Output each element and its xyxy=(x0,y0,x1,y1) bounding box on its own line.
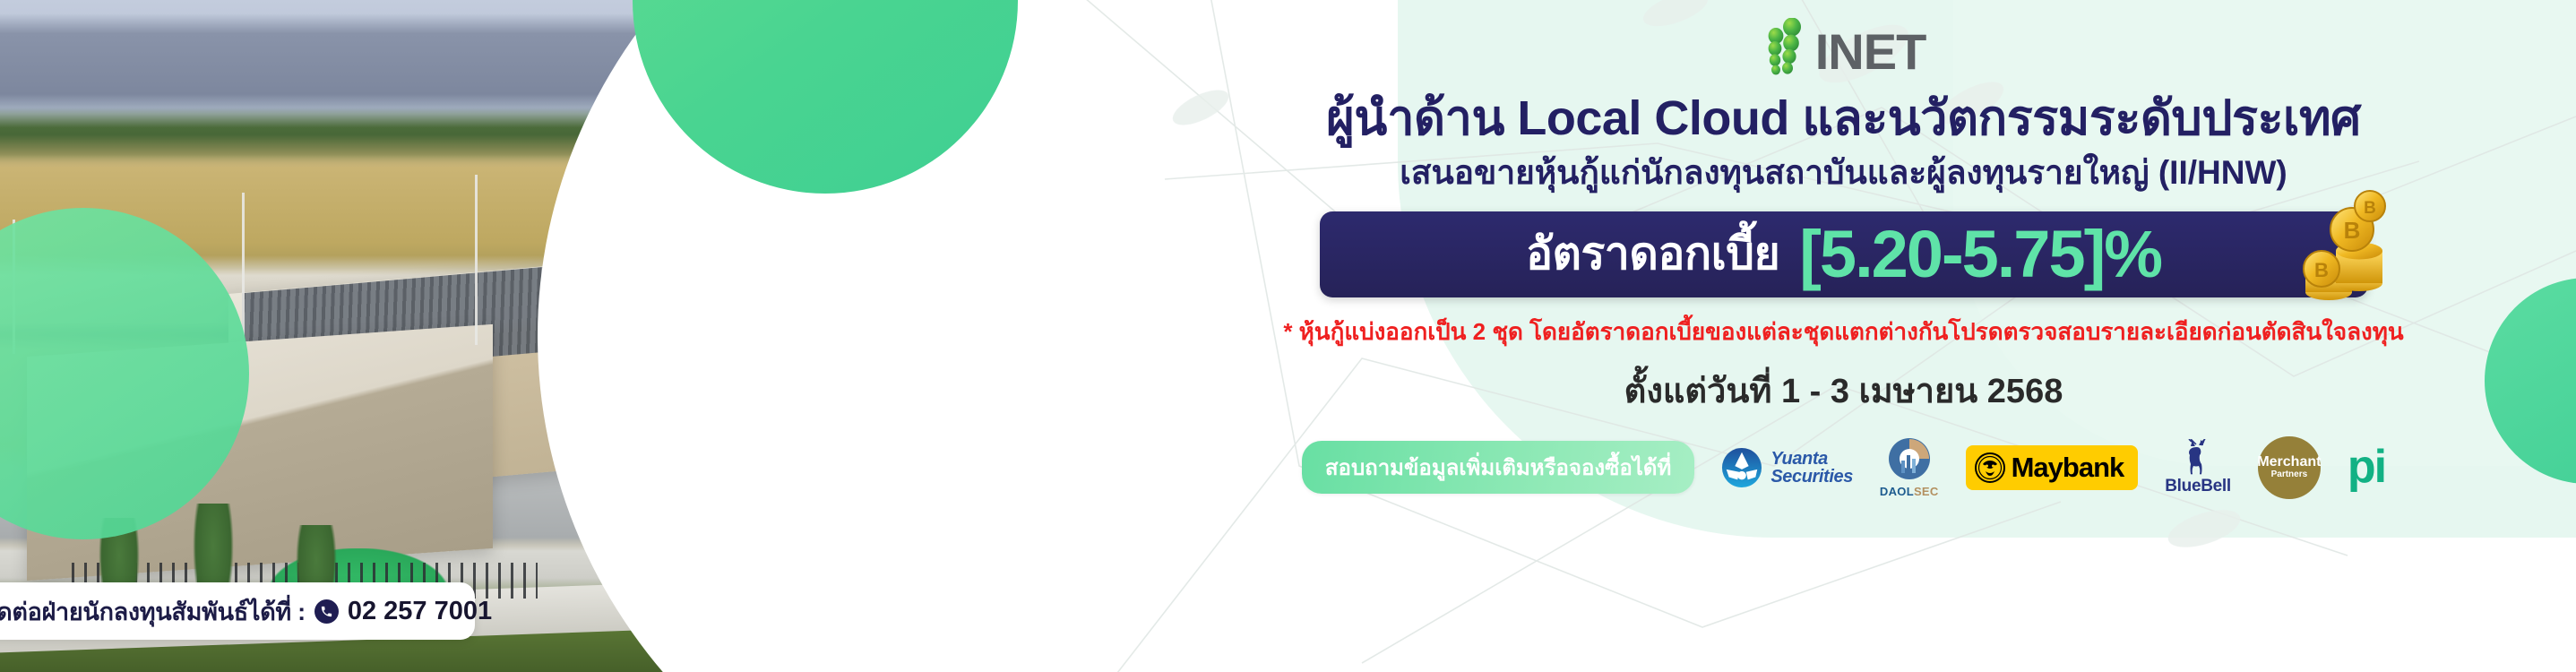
svg-text:B: B xyxy=(2364,199,2376,218)
bluebell-deer-icon xyxy=(2179,439,2217,477)
partner-logo-daol[interactable]: DAOLSEC xyxy=(1880,435,1939,500)
interest-rate-label: อัตราดอกเบี้ย xyxy=(1526,219,1779,289)
page-subtitle: เสนอขายหุ้นกู้แก่นักลงทุนสถาบันและผู้ลงท… xyxy=(1400,154,2287,191)
yuanta-line1: Yuanta xyxy=(1770,450,1853,468)
daol-line2: SEC xyxy=(1914,485,1939,498)
offer-content-column: INET ผู้นำด้าน Local Cloud และนวัตกรรมระ… xyxy=(1111,0,2576,672)
yuanta-wordmark: Yuanta Securities xyxy=(1770,450,1853,487)
partner-logo-merchant-partners[interactable]: Merchant Partners xyxy=(2258,436,2321,499)
daol-line1: DAOL xyxy=(1880,485,1914,498)
maybank-wordmark: Maybank xyxy=(2012,452,2124,484)
daol-wordmark: DAOLSEC xyxy=(1880,484,1939,500)
merchant-line2: Partners xyxy=(2271,470,2308,480)
gold-coins-icon: B B B xyxy=(2270,186,2404,321)
inet-bond-offering-banner: ติดต่อฝ่ายนักลงทุนสัมพันธ์ได้ที่ : 02 25… xyxy=(0,0,2576,672)
inet-dots-icon xyxy=(1762,18,1814,75)
investor-relations-contact-box[interactable]: ติดต่อฝ่ายนักลงทุนสัมพันธ์ได้ที่ : 02 25… xyxy=(0,582,475,640)
contact-phone-number[interactable]: 02 257 7001 xyxy=(348,597,492,626)
interest-rate-value: [5.20-5.75]% xyxy=(1799,221,2161,288)
partners-row: สอบถามข้อมูลเพิ่มเติมหรือจองซื้อได้ที่ xyxy=(1302,435,2385,500)
offer-disclaimer: * หุ้นกู้แบ่งออกเป็น 2 ชุด โดยอัตราดอกเบ… xyxy=(1283,314,2403,350)
contact-label: ติดต่อฝ่ายนักลงทุนสัมพันธ์ได้ที่ : xyxy=(0,592,306,631)
partner-logo-yuanta[interactable]: Yuanta Securities xyxy=(1721,447,1853,488)
offer-period: ตั้งแต่วันที่ 1 - 3 เมษายน 2568 xyxy=(1624,363,2063,418)
merchant-line1: Merchant xyxy=(2257,455,2321,470)
phone-icon xyxy=(314,599,339,624)
enquiry-cta-button[interactable]: สอบถามข้อมูลเพิ่มเติมหรือจองซื้อได้ที่ xyxy=(1302,441,1694,494)
partner-logo-maybank[interactable]: Maybank xyxy=(1966,445,2139,490)
partner-logo-bluebell[interactable]: BlueBell xyxy=(2165,439,2231,496)
partner-logo-pi[interactable]: pi xyxy=(2348,449,2385,487)
interest-rate-banner: อัตราดอกเบี้ย [5.20-5.75]% xyxy=(1320,211,2368,297)
inet-logo: INET xyxy=(1762,16,1926,75)
photo-light-pole xyxy=(475,175,478,345)
yuanta-line2: Securities xyxy=(1770,468,1853,486)
bluebell-wordmark: BlueBell xyxy=(2165,477,2231,496)
svg-text:B: B xyxy=(2314,259,2329,281)
yuanta-star-icon xyxy=(1721,447,1762,488)
svg-text:B: B xyxy=(2343,217,2360,244)
maybank-tiger-icon xyxy=(1975,452,2005,483)
daol-circle-icon xyxy=(1886,435,1933,482)
inet-logo-wordmark: INET xyxy=(1815,28,1926,75)
page-title: ผู้นำด้าน Local Cloud และนวัตกรรมระดับปร… xyxy=(1326,91,2361,145)
